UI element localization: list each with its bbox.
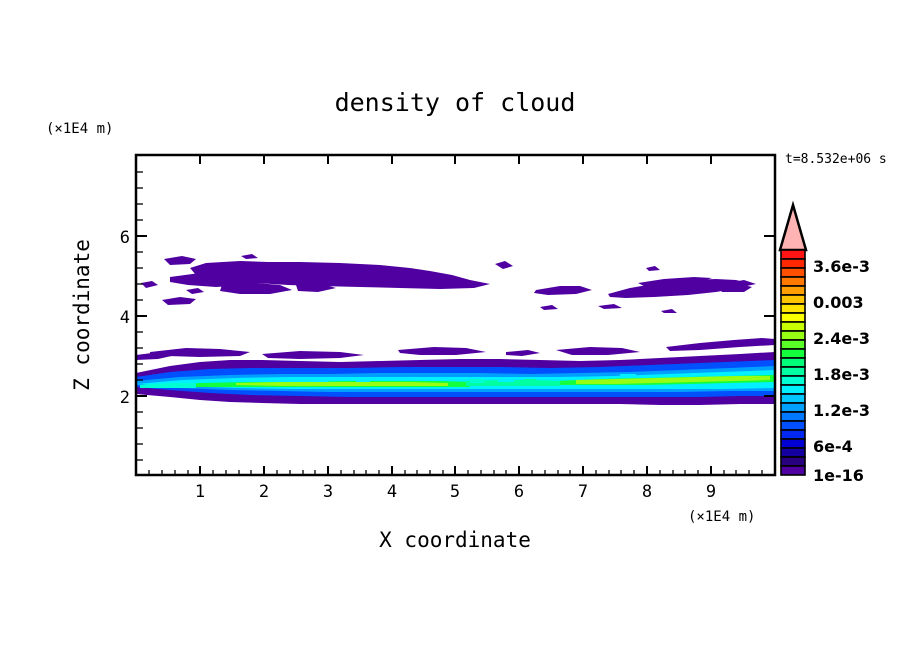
plot-area xyxy=(136,155,775,475)
colorbar-band xyxy=(781,304,805,313)
colorbar-tick-label: 1.8e-3 xyxy=(813,365,870,384)
x-tick-label: 5 xyxy=(450,482,460,502)
colorbar-band xyxy=(781,430,805,439)
colorbar-band xyxy=(781,340,805,349)
time-annotation: t=8.532e+06 s xyxy=(785,152,887,167)
y-tick-label: 4 xyxy=(120,308,130,328)
colorbar-band xyxy=(781,313,805,322)
colorbar-tick-label: 1.2e-3 xyxy=(813,401,870,420)
colorbar-band xyxy=(781,412,805,421)
x-tick-label: 2 xyxy=(259,482,269,502)
colorbar-band xyxy=(781,466,805,475)
x-tick-label: 7 xyxy=(578,482,588,502)
colorbar-band xyxy=(781,295,805,304)
colorbar-band xyxy=(781,286,805,295)
contour-plot-figure: density of cloud (×1E4 m) t=8.532e+06 s xyxy=(0,0,904,654)
colorbar-bands xyxy=(781,250,805,475)
colorbar-band xyxy=(781,376,805,385)
colorbar-band xyxy=(781,448,805,457)
colorbar-tick-label: 1e-16 xyxy=(813,466,864,485)
colorbar-band xyxy=(781,259,805,268)
page-title: density of cloud xyxy=(335,88,576,117)
colorbar-band xyxy=(781,250,805,259)
x-tick-label: 9 xyxy=(706,482,716,502)
x-tick-label: 6 xyxy=(514,482,524,502)
colorbar-tick-label: 0.003 xyxy=(813,293,864,312)
colorbar-tick-label: 2.4e-3 xyxy=(813,329,870,348)
colorbar-band xyxy=(781,349,805,358)
colorbar-band xyxy=(781,394,805,403)
y-axis-title: Z coordinate xyxy=(70,239,94,391)
x-tick-label: 8 xyxy=(642,482,652,502)
colorbar-band xyxy=(781,403,805,412)
colorbar-band xyxy=(781,331,805,340)
colorbar-band xyxy=(781,268,805,277)
x-tick-label: 3 xyxy=(323,482,333,502)
colorbar-band xyxy=(781,385,805,394)
colorbar-band xyxy=(781,358,805,367)
colorbar-tick-label: 6e-4 xyxy=(813,437,853,456)
colorbar-band xyxy=(781,277,805,286)
x-tick-label: 4 xyxy=(387,482,397,502)
y-tick-label: 2 xyxy=(120,388,130,408)
x-axis-unit-label: (×1E4 m) xyxy=(688,509,755,525)
colorbar-band xyxy=(781,421,805,430)
x-axis-title: X coordinate xyxy=(379,528,531,552)
y-axis-unit-label: (×1E4 m) xyxy=(46,121,113,137)
x-tick-label: 1 xyxy=(195,482,205,502)
colorbar-band xyxy=(781,322,805,331)
y-tick-label: 6 xyxy=(120,228,130,248)
colorbar-band xyxy=(781,439,805,448)
colorbar-band xyxy=(781,457,805,466)
colorbar-band xyxy=(781,367,805,376)
colorbar-tick-label: 3.6e-3 xyxy=(813,257,870,276)
plot-background xyxy=(136,155,775,475)
